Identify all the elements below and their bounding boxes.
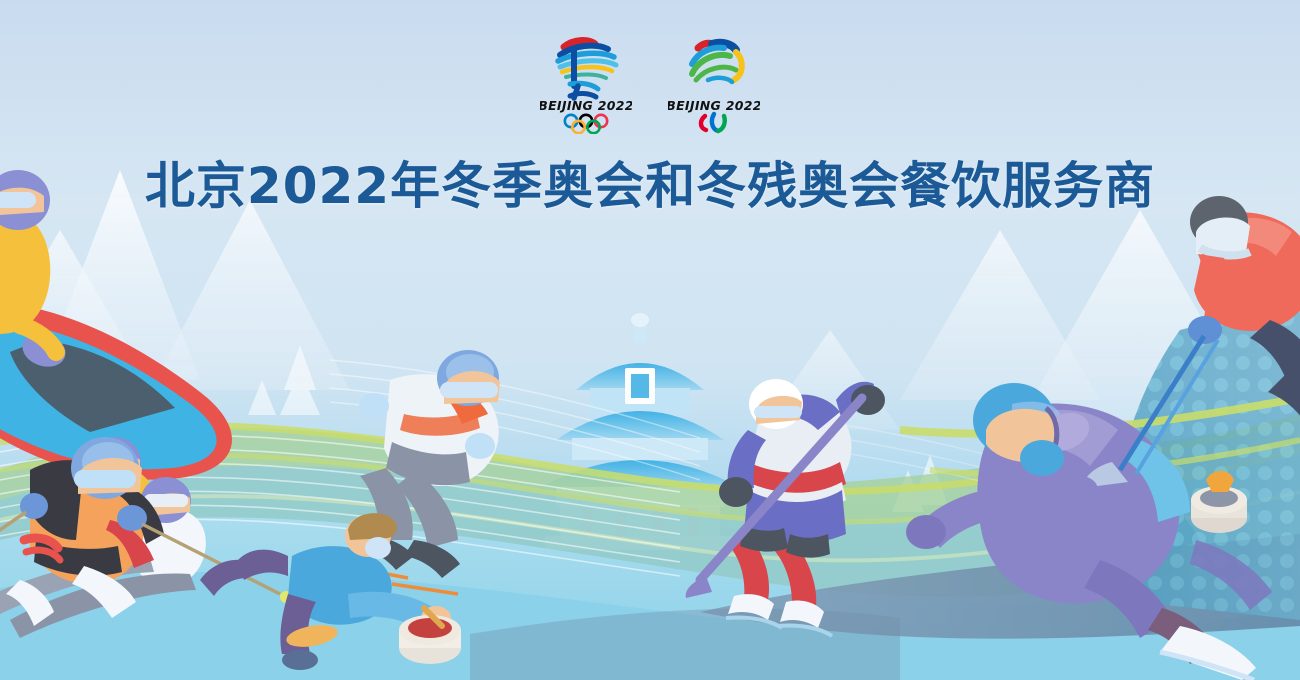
- curling-stone-yellow: [1191, 471, 1247, 533]
- emblem-row: BEIJING 2022: [0, 30, 1300, 134]
- athlete-alpine-skier: [0, 437, 292, 638]
- athlete-curler-delivery: [200, 513, 461, 670]
- agitos-symbol: [701, 114, 725, 131]
- beijing-2022-olympic-emblem: BEIJING 2022: [540, 30, 632, 134]
- athlete-bobsleigh-team: [0, 170, 232, 585]
- speed-lines: [0, 360, 1080, 576]
- slate-band: [700, 534, 1300, 639]
- olympic-rings: [565, 115, 607, 133]
- athlete-speed-skater: [906, 383, 1272, 680]
- paralympic-wordmark: BEIJING 2022: [668, 98, 760, 113]
- halftone-zone: [1114, 300, 1300, 620]
- athlete-ice-hockey-player: [686, 379, 885, 636]
- curling-stone-red: [399, 608, 461, 664]
- paralympic-emblem-ribbon: [692, 43, 742, 82]
- halftone-zone-center: [993, 463, 1201, 600]
- olympic-wordmark: BEIJING 2022: [540, 98, 632, 113]
- olympic-emblem-ribbon: [558, 41, 616, 98]
- bobsleigh-athlete-3: [134, 477, 206, 585]
- beijing-2022-catering-banner: BEIJING 2022: [0, 0, 1300, 680]
- temple-of-heaven: [536, 313, 744, 550]
- lime-ribbons-right: [900, 398, 1300, 475]
- beijing-2022-paralympic-emblem: BEIJING 2022: [668, 30, 760, 134]
- bobsleigh-athlete-2: [76, 437, 155, 552]
- page-title: 北京2022年冬季奥会和冬残奥会餐饮服务商: [0, 146, 1300, 218]
- athlete-short-track-skater: [344, 350, 500, 594]
- ribbon-bands: [0, 418, 1300, 680]
- athlete-curler-sweeper: [1051, 196, 1300, 533]
- fir-trees: [248, 345, 948, 512]
